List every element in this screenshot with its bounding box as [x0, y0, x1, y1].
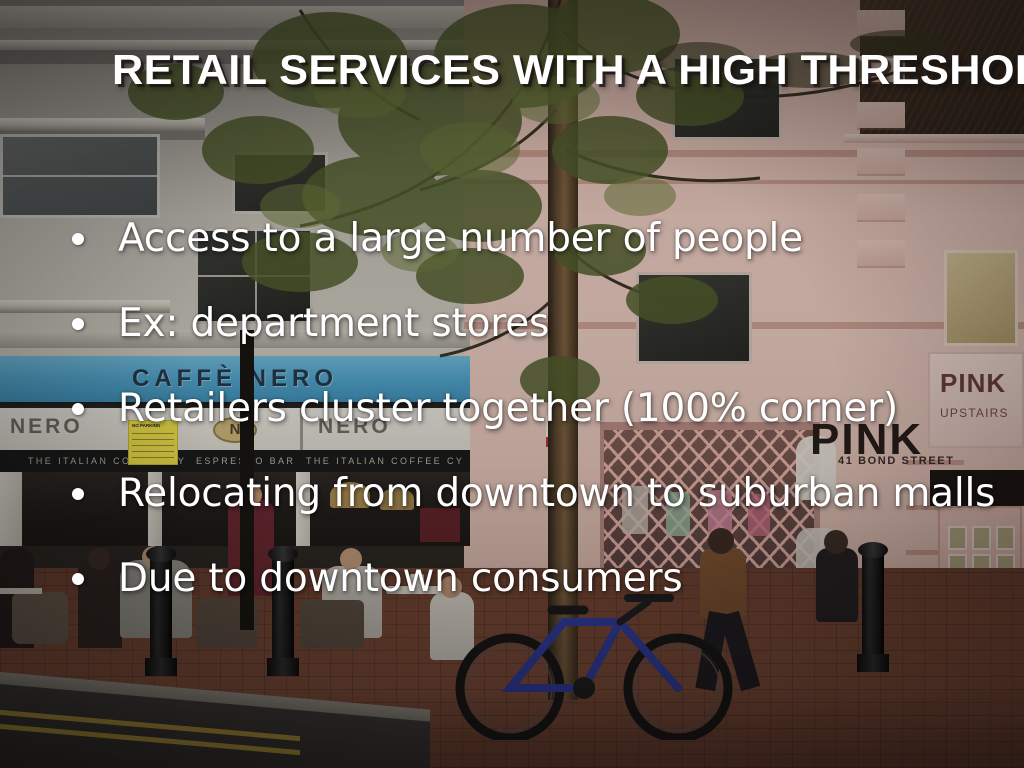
bullet-list: Access to a large number of people Ex: d…: [68, 196, 1018, 621]
bullet-text: Retailers cluster together (100% corner): [118, 388, 898, 430]
bullet-marker-icon: [72, 488, 84, 500]
bullet-text: Relocating from downtown to suburban mal…: [118, 473, 995, 515]
slide-title: Retail Services with a High Threshold: [112, 47, 967, 93]
list-item: Retailers cluster together (100% corner): [68, 366, 1018, 451]
bullet-text: Ex: department stores: [118, 303, 549, 345]
list-item: Ex: department stores: [68, 281, 1018, 366]
list-item: Access to a large number of people: [68, 196, 1018, 281]
bullet-marker-icon: [72, 318, 84, 330]
list-item: Relocating from downtown to suburban mal…: [68, 451, 1018, 536]
presentation-slide: PINK UPSTAIRS PINK 41 BOND STREET CAFFÈ …: [0, 0, 1024, 768]
bullet-text: Due to downtown consumers: [118, 558, 682, 600]
bullet-text: Access to a large number of people: [118, 218, 803, 260]
list-item: Due to downtown consumers: [68, 536, 1018, 621]
bullet-marker-icon: [72, 403, 84, 415]
bullet-marker-icon: [72, 573, 84, 585]
bullet-marker-icon: [72, 233, 84, 245]
